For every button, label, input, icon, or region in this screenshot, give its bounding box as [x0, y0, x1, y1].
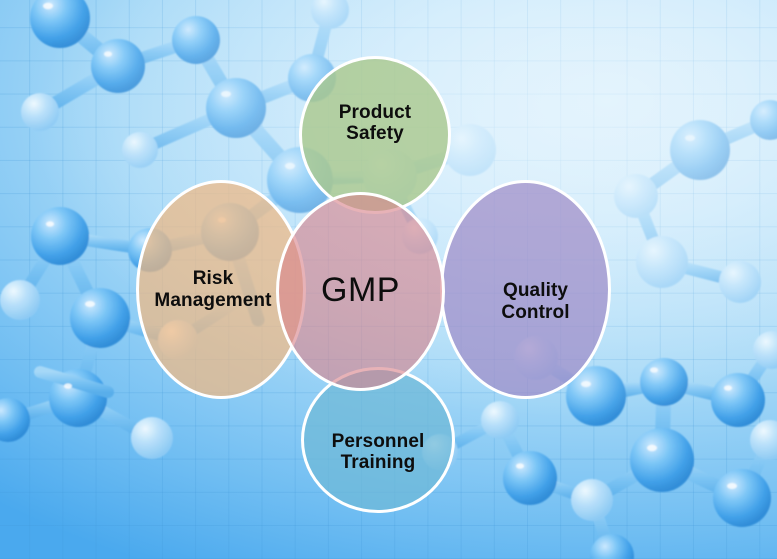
venn-lobe-product-safety-label: Product Safety [339, 102, 411, 145]
venn-lobe-risk-management-label: Risk Management [154, 268, 271, 311]
venn-center-gmp[interactable]: GMP [276, 192, 445, 391]
venn-lobe-product-safety[interactable]: Product Safety [299, 56, 451, 214]
gmp-venn-diagram-canvas: Product Safety Risk Management Quality C… [0, 0, 777, 559]
venn-lobe-quality-control-label: Quality Control [501, 280, 569, 323]
venn-lobe-personnel-training-label: Personnel Training [332, 431, 425, 474]
venn-center-gmp-label: GMP [321, 271, 400, 309]
venn-diagram: Product Safety Risk Management Quality C… [0, 0, 777, 559]
venn-lobe-personnel-training[interactable]: Personnel Training [301, 367, 455, 513]
venn-lobe-quality-control[interactable]: Quality Control [440, 180, 611, 399]
